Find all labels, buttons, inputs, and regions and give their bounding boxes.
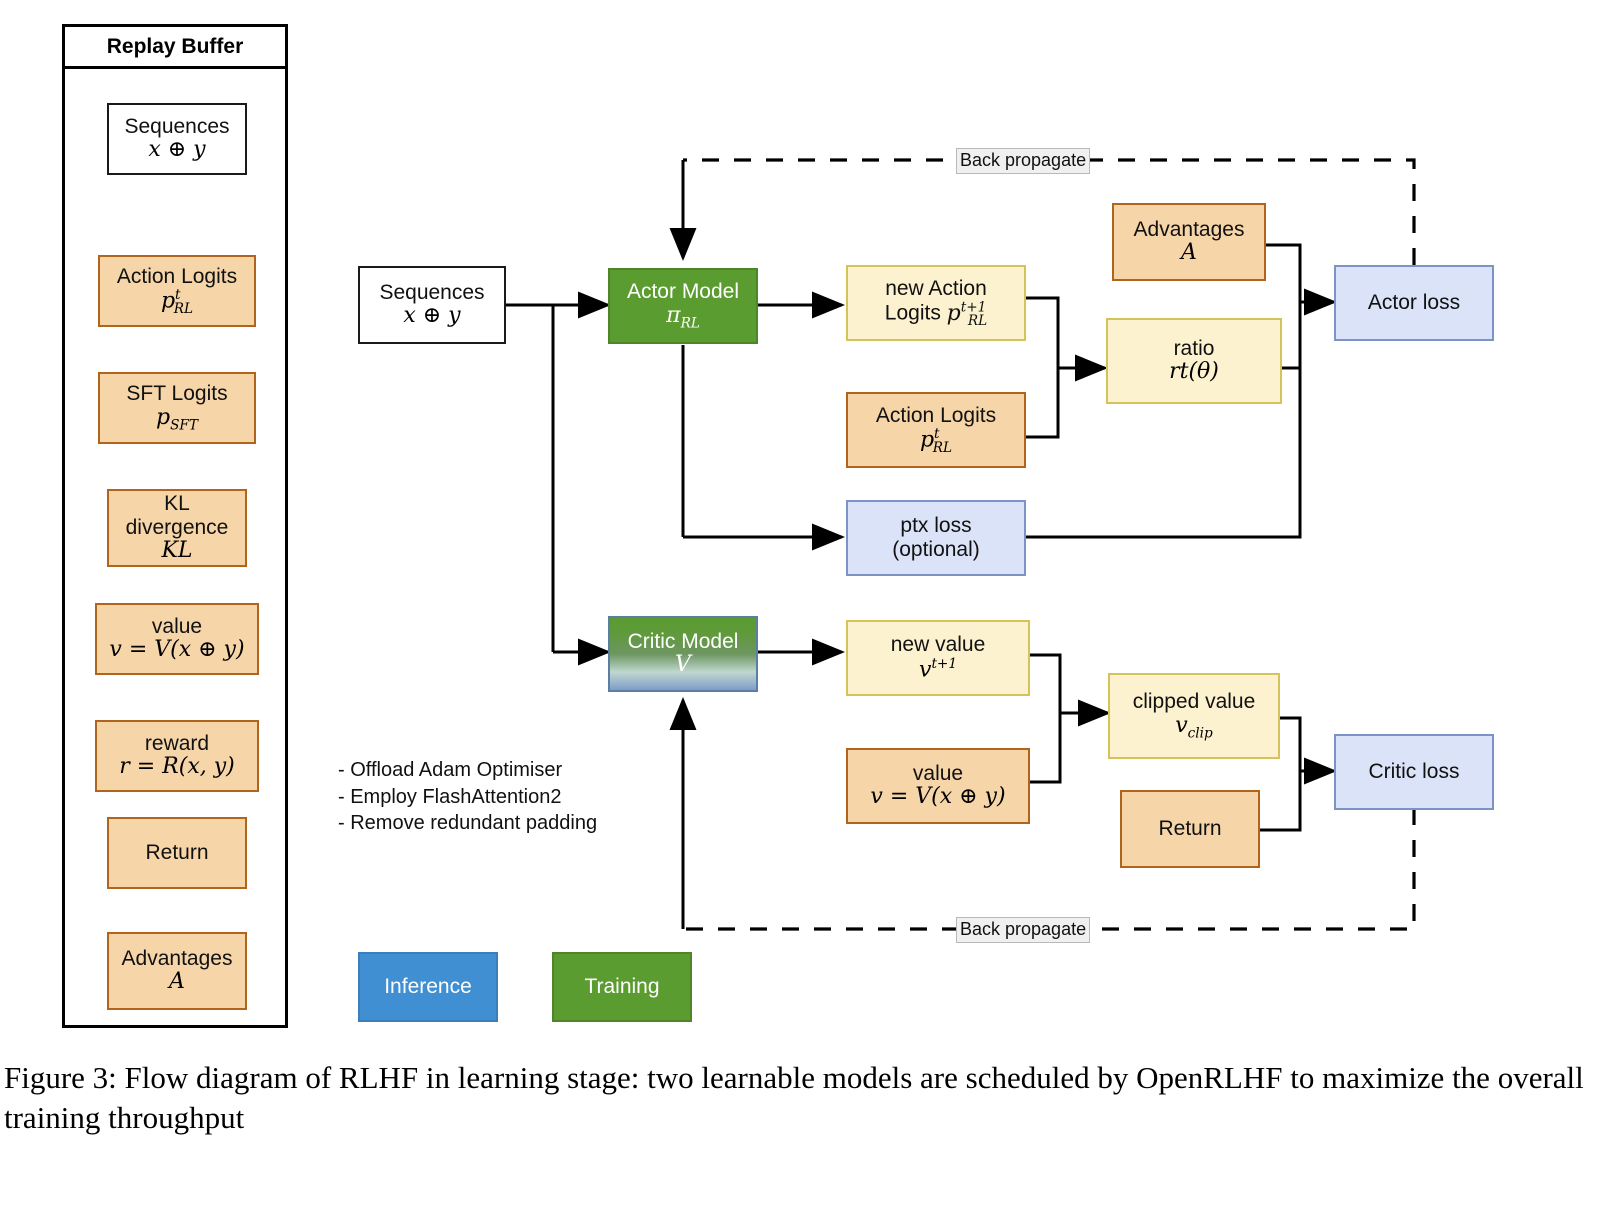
legend-training[interactable]: Training — [552, 952, 692, 1022]
node-new-value[interactable]: new value vt+1 — [846, 620, 1030, 696]
node-actor-model-formula: πRL — [666, 304, 700, 332]
node-ratio-label: ratio — [1174, 337, 1215, 361]
node-value[interactable]: value v = V(x ⊕ y) — [846, 748, 1030, 824]
legend-training-label: Training — [584, 975, 659, 999]
performance-note-0: - Offload Adam Optimiser — [338, 757, 668, 784]
buffer-item-sft-logits[interactable]: SFT Logits pSFT — [98, 372, 256, 444]
node-sequences-label: Sequences — [379, 281, 484, 305]
edge-label-back-propagate-bottom: Back propagate — [956, 917, 1090, 943]
buffer-item-kl-divergence-label1: KL — [164, 492, 190, 516]
node-critic-model-label: Critic Model — [628, 630, 739, 654]
buffer-item-reward-formula: r = R(x, y) — [119, 755, 235, 780]
node-new-value-formula: vt+1 — [919, 657, 957, 683]
node-new-action-logits[interactable]: new Action Logits pt+1RL — [846, 265, 1026, 341]
buffer-item-sft-logits-formula: pSFT — [156, 406, 198, 434]
performance-note-2: - Remove redundant padding — [338, 810, 668, 837]
node-advantages[interactable]: Advantages A — [1112, 203, 1266, 281]
node-critic-model[interactable]: Critic Model V — [608, 616, 758, 692]
node-critic-loss[interactable]: Critic loss — [1334, 734, 1494, 810]
figure-caption: Figure 3: Flow diagram of RLHF in learni… — [4, 1058, 1614, 1139]
edge-label-back-propagate-top: Back propagate — [956, 148, 1090, 174]
node-ptx-loss[interactable]: ptx loss (optional) — [846, 500, 1026, 576]
buffer-item-sequences-label: Sequences — [124, 115, 229, 139]
node-actor-loss-label: Actor loss — [1368, 291, 1460, 315]
node-actor-loss[interactable]: Actor loss — [1334, 265, 1494, 341]
node-action-logits-formula: ptRL — [920, 427, 952, 456]
buffer-item-action-logits-formula: ptRL — [161, 288, 193, 317]
buffer-item-sequences[interactable]: Sequences x ⊕ y — [107, 103, 247, 175]
node-ptx-loss-label: ptx loss — [900, 514, 971, 538]
node-sequences[interactable]: Sequences x ⊕ y — [358, 266, 506, 344]
buffer-item-kl-divergence[interactable]: KL divergence KL — [107, 489, 247, 567]
node-ptx-loss-sublabel: (optional) — [892, 538, 980, 562]
node-clipped-value-label: clipped value — [1133, 690, 1256, 714]
buffer-item-kl-divergence-label2: divergence — [126, 516, 229, 540]
node-advantages-formula: A — [1181, 241, 1197, 266]
buffer-item-sft-logits-label: SFT Logits — [126, 382, 227, 406]
node-actor-model[interactable]: Actor Model πRL — [608, 268, 758, 344]
node-new-value-label: new value — [891, 633, 986, 657]
node-action-logits[interactable]: Action Logits ptRL — [846, 392, 1026, 468]
node-ratio-formula: rt(θ) — [1169, 360, 1219, 385]
node-actor-model-label: Actor Model — [627, 280, 739, 304]
replay-buffer-title: Replay Buffer — [65, 27, 285, 69]
buffer-item-kl-divergence-formula: KL — [161, 539, 192, 564]
node-value-label: value — [913, 762, 963, 786]
figure-3-flow-diagram: Replay Buffer Sequences x ⊕ y Action Log… — [0, 0, 1618, 1050]
buffer-item-action-logits-label: Action Logits — [117, 265, 237, 289]
buffer-item-value[interactable]: value v = V(x ⊕ y) — [95, 603, 259, 675]
node-value-formula: v = V(x ⊕ y) — [870, 785, 1005, 810]
buffer-item-advantages-label: Advantages — [122, 947, 233, 971]
buffer-item-reward[interactable]: reward r = R(x, y) — [95, 720, 259, 792]
node-critic-model-formula: V — [675, 653, 691, 678]
node-advantages-label: Advantages — [1134, 218, 1245, 242]
node-return[interactable]: Return — [1120, 790, 1260, 868]
node-new-action-logits-formula: Logits pt+1RL — [885, 300, 987, 329]
performance-note-1: - Employ FlashAttention2 — [338, 784, 668, 811]
node-clipped-value[interactable]: clipped value vclip — [1108, 673, 1280, 759]
node-critic-loss-label: Critic loss — [1368, 760, 1459, 784]
performance-notes-list: - Offload Adam Optimiser - Employ FlashA… — [338, 757, 668, 837]
node-ratio[interactable]: ratio rt(θ) — [1106, 318, 1282, 404]
replay-buffer-panel: Replay Buffer Sequences x ⊕ y Action Log… — [62, 24, 288, 1028]
legend-inference[interactable]: Inference — [358, 952, 498, 1022]
node-action-logits-label: Action Logits — [876, 404, 996, 428]
buffer-item-reward-label: reward — [145, 732, 209, 756]
buffer-item-action-logits[interactable]: Action Logits ptRL — [98, 255, 256, 327]
buffer-item-sequences-formula: x ⊕ y — [148, 138, 205, 163]
node-sequences-formula: x ⊕ y — [403, 304, 460, 329]
buffer-item-value-label: value — [152, 615, 202, 639]
buffer-item-return-label: Return — [145, 841, 208, 865]
node-new-action-logits-label: new Action — [885, 277, 987, 301]
buffer-item-advantages-formula: A — [169, 970, 185, 995]
buffer-item-advantages[interactable]: Advantages A — [107, 932, 247, 1010]
legend-inference-label: Inference — [384, 975, 472, 999]
buffer-item-return[interactable]: Return — [107, 817, 247, 889]
node-clipped-value-formula: vclip — [1175, 714, 1213, 742]
buffer-item-value-formula: v = V(x ⊕ y) — [109, 638, 244, 663]
node-return-label: Return — [1158, 817, 1221, 841]
replay-buffer-title-text: Replay Buffer — [107, 35, 244, 59]
